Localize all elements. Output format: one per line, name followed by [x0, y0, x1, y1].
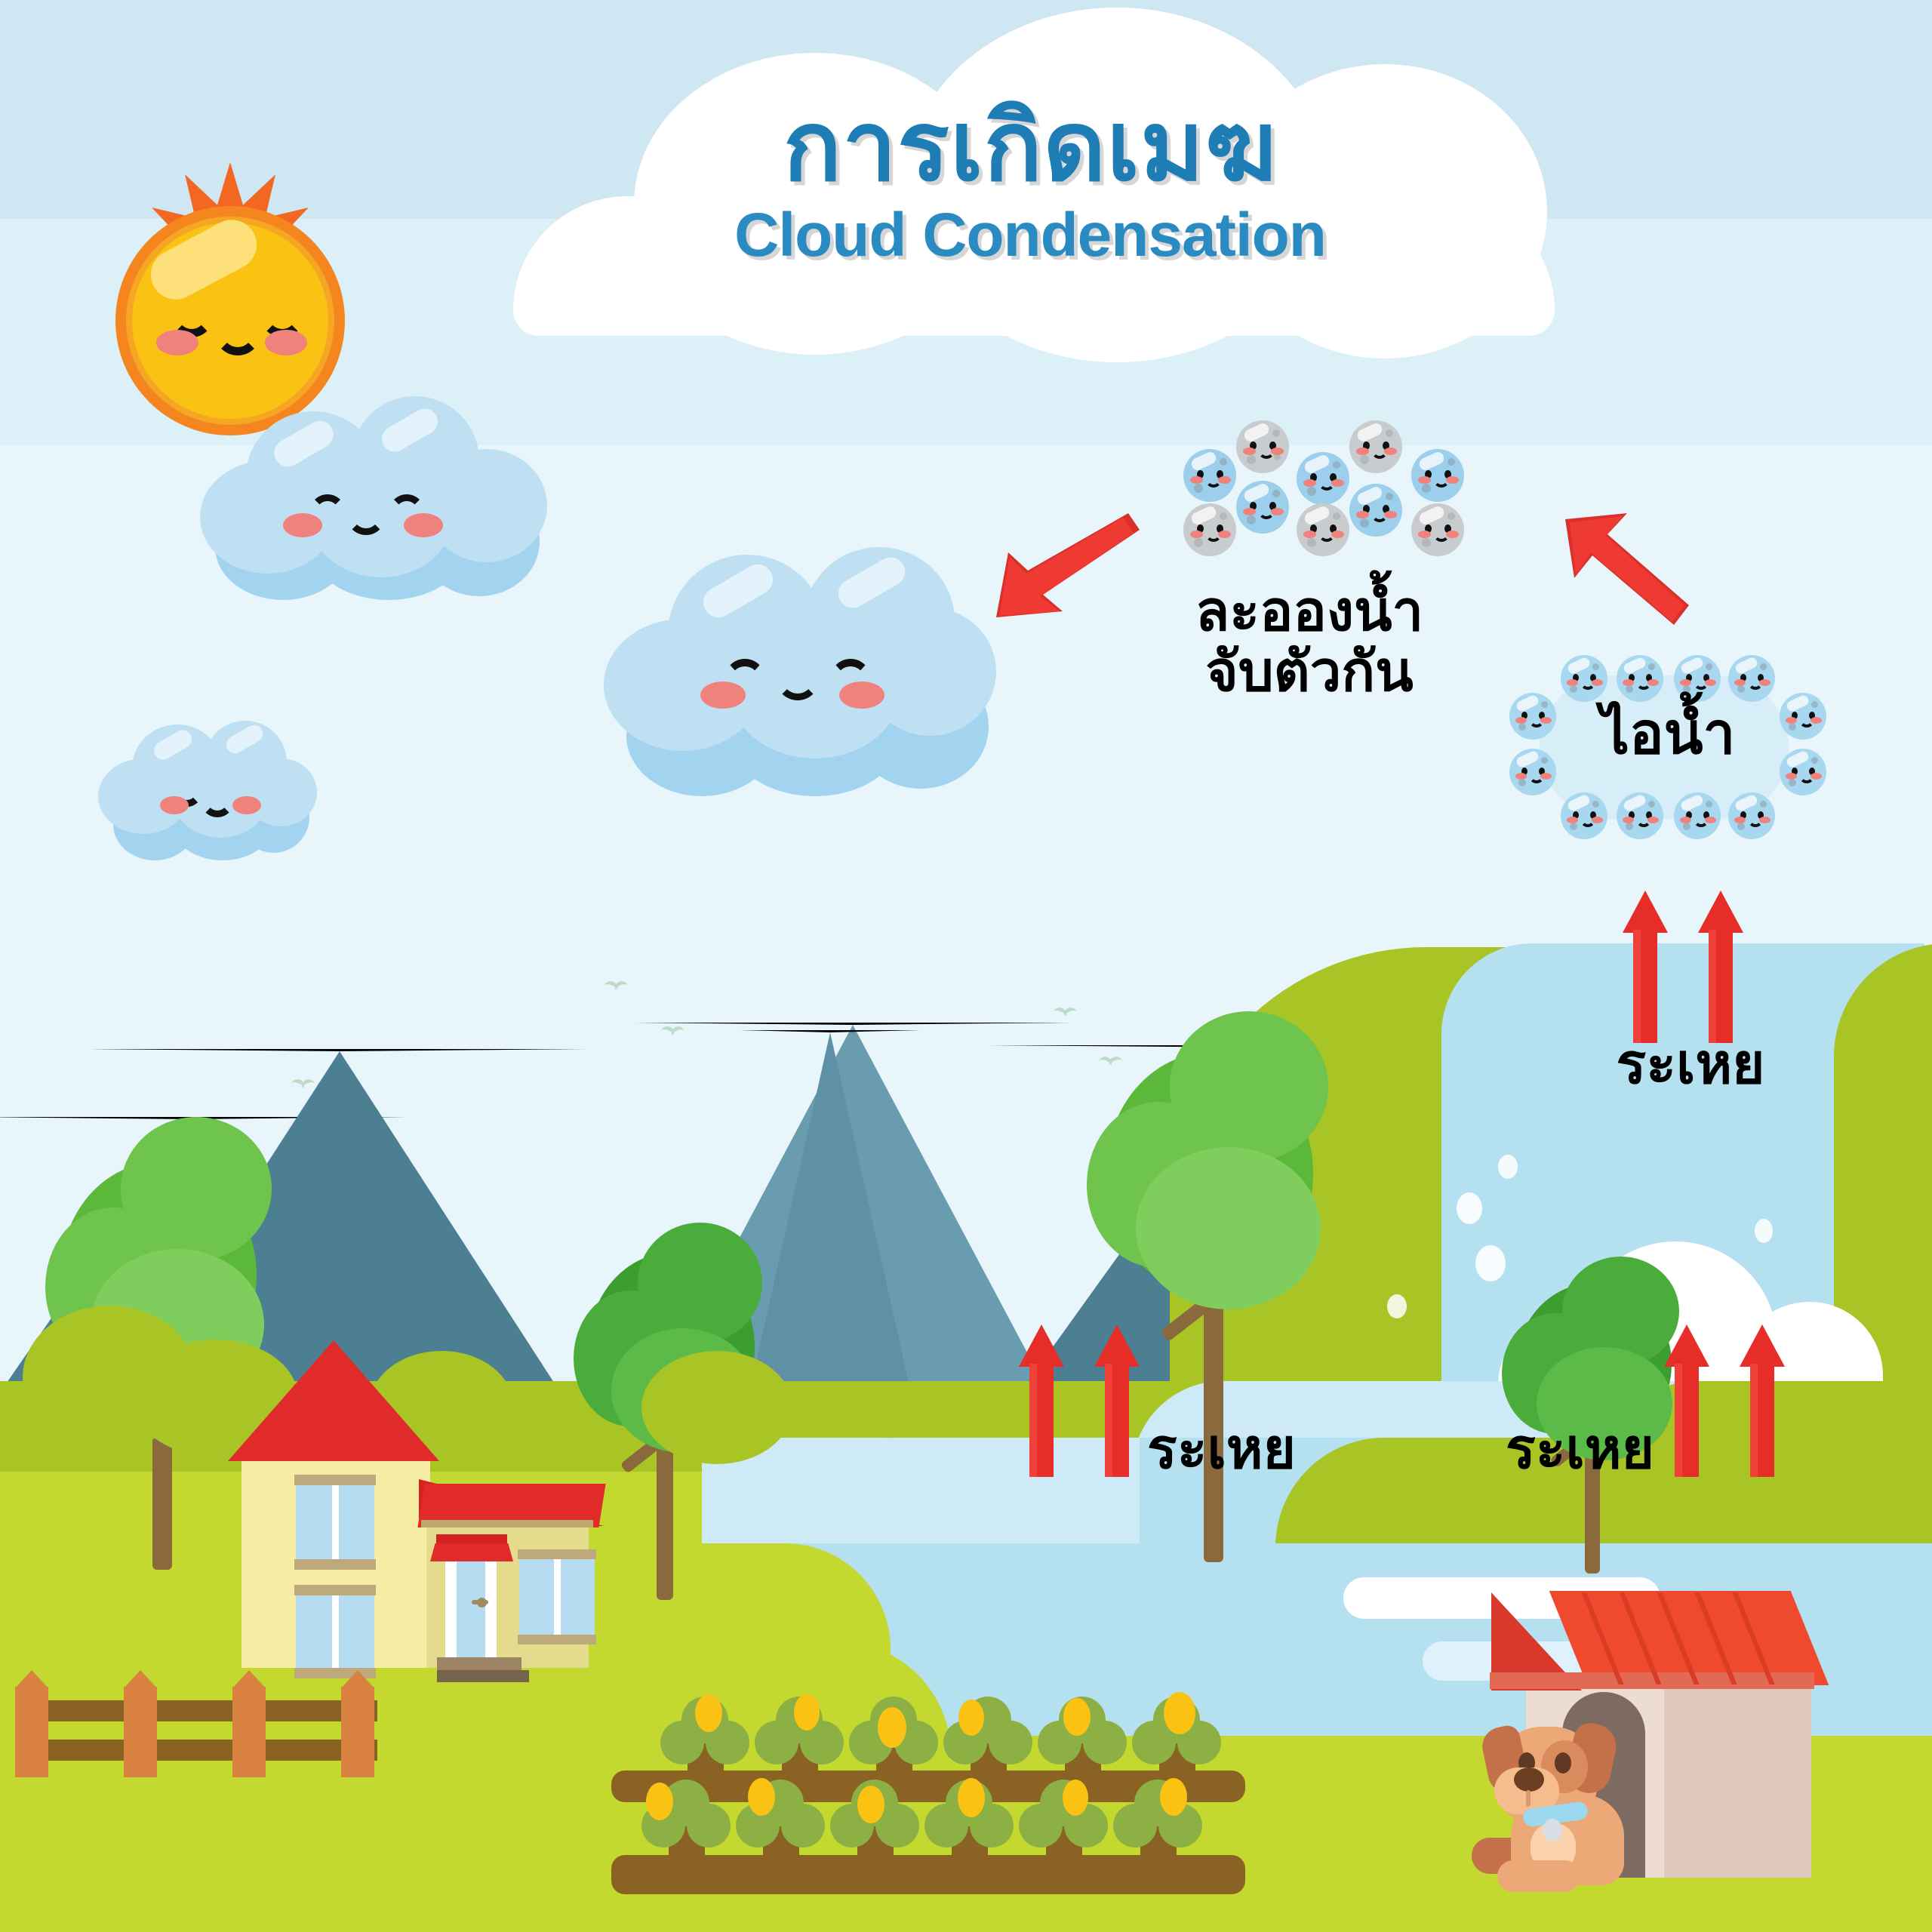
dog-eye-right	[1555, 1752, 1571, 1774]
house-door-awning-top	[436, 1534, 507, 1543]
label-droplets-condense-line2: จับตัวกัน	[1162, 641, 1457, 702]
vapor-droplet-4	[1728, 655, 1775, 702]
house-step-lower	[437, 1670, 529, 1682]
droplet-gray-1	[1236, 420, 1289, 473]
farm-house	[226, 1336, 664, 1668]
label-water-vapor: ไอน้ำ	[1585, 703, 1751, 765]
infographic-canvas: การเกิดเมฆ Cloud Condensation	[0, 0, 1932, 1932]
fence-post-4	[341, 1687, 374, 1777]
fence-rail-upper	[30, 1700, 377, 1721]
vapor-droplet-2	[1617, 655, 1663, 702]
water-bubble-5	[1755, 1219, 1773, 1243]
page-title-english: Cloud Condensation	[483, 202, 1577, 269]
house-window-upper-sill	[294, 1559, 376, 1570]
water-bubble-1	[1498, 1155, 1518, 1179]
bird-icon-3	[604, 981, 629, 996]
vapor-droplet-7	[1780, 693, 1826, 740]
title-banner-cloud: การเกิดเมฆ Cloud Condensation	[483, 8, 1577, 325]
droplet-gray-4	[1297, 503, 1349, 556]
vapor-droplet-9	[1561, 792, 1607, 839]
label-evaporation-river-right: ระเหย	[1506, 1419, 1717, 1479]
dog	[1479, 1698, 1653, 1887]
sun-left-cheek	[156, 330, 198, 355]
house-window-right-mullion	[554, 1555, 561, 1638]
arrow-evap-waterfall-1	[1623, 891, 1668, 1049]
vapor-droplet-1	[1561, 655, 1607, 702]
house-window-lower-lintel	[294, 1585, 376, 1595]
dog-collar-tag	[1543, 1819, 1562, 1841]
house-window-upper-lintel	[294, 1475, 376, 1485]
dog-house-group	[1479, 1577, 1864, 1932]
label-evaporation-river-left: ระเหย	[1147, 1419, 1358, 1479]
vapor-droplet-10	[1617, 792, 1663, 839]
label-evaporation-waterfall: ระเหย	[1577, 1034, 1804, 1094]
arrow-rise-up-right	[1555, 513, 1690, 634]
droplet-blue-4	[1236, 481, 1289, 534]
arrow-condense-down-left	[996, 506, 1140, 626]
fence-rail-lower	[30, 1740, 377, 1761]
house-wing-roof-eave	[421, 1520, 593, 1527]
vapor-droplet-12	[1728, 792, 1775, 839]
droplet-gray-5	[1411, 503, 1464, 556]
arrow-evap-river-right-2	[1740, 1324, 1785, 1483]
water-bubble-4	[1387, 1294, 1407, 1318]
water-bubble-2	[1457, 1192, 1482, 1224]
house-step-upper	[437, 1657, 521, 1671]
page-title-thai: การเกิดเมฆ	[483, 98, 1577, 197]
droplet-blue-5	[1349, 484, 1402, 537]
house-door-knob[interactable]	[477, 1598, 487, 1607]
house-gable-roof	[228, 1340, 439, 1461]
droplet-blue-2	[1297, 452, 1349, 505]
house-door-awning	[430, 1543, 513, 1561]
label-droplets-condense: ละอองน้ำ จับตัวกัน	[1162, 581, 1457, 702]
water-bubble-3	[1475, 1245, 1506, 1281]
doghouse-side-wall	[1664, 1689, 1811, 1878]
fence-post-1	[15, 1687, 48, 1777]
vapor-droplet-8	[1780, 749, 1826, 795]
crop-soil-row-2	[611, 1855, 1245, 1894]
house-window-right-sill	[518, 1635, 596, 1644]
vapor-droplet-5	[1509, 693, 1556, 740]
cloud-character-small-left	[98, 717, 317, 860]
vapor-droplet-6	[1509, 749, 1556, 795]
droplet-blue-3	[1411, 449, 1464, 502]
condensation-droplet-cluster	[1162, 419, 1479, 555]
droplet-blue-1	[1183, 449, 1236, 502]
cloud-character-top-left	[200, 396, 547, 600]
arrow-evap-river-left-2	[1094, 1324, 1140, 1483]
sun-right-cheek	[265, 330, 307, 355]
house-window-lower-mullion	[332, 1591, 339, 1671]
dog-nose	[1514, 1767, 1544, 1792]
fence	[15, 1672, 408, 1792]
arrow-evap-waterfall-2	[1698, 891, 1743, 1049]
vapor-droplet-3	[1674, 655, 1721, 702]
fence-post-3	[232, 1687, 266, 1777]
house-window-upper-mullion	[332, 1479, 339, 1561]
label-droplets-condense-line1: ละอองน้ำ	[1162, 581, 1457, 641]
dog-paws	[1497, 1860, 1580, 1892]
water-vapor-cluster: ไอน้ำ	[1502, 649, 1826, 845]
dog-mouth-line	[1526, 1790, 1531, 1807]
bird-icon-5	[1053, 1008, 1078, 1023]
vapor-droplet-11	[1674, 792, 1721, 839]
arrow-evap-river-left-1	[1019, 1324, 1064, 1483]
shrub-center-2	[641, 1351, 792, 1464]
droplet-gray-3	[1183, 503, 1236, 556]
house-window-right-lintel	[518, 1549, 596, 1559]
droplet-gray-2	[1349, 420, 1402, 473]
crop-field	[626, 1690, 1245, 1917]
fence-post-2	[124, 1687, 157, 1777]
cloud-character-center	[604, 547, 996, 796]
